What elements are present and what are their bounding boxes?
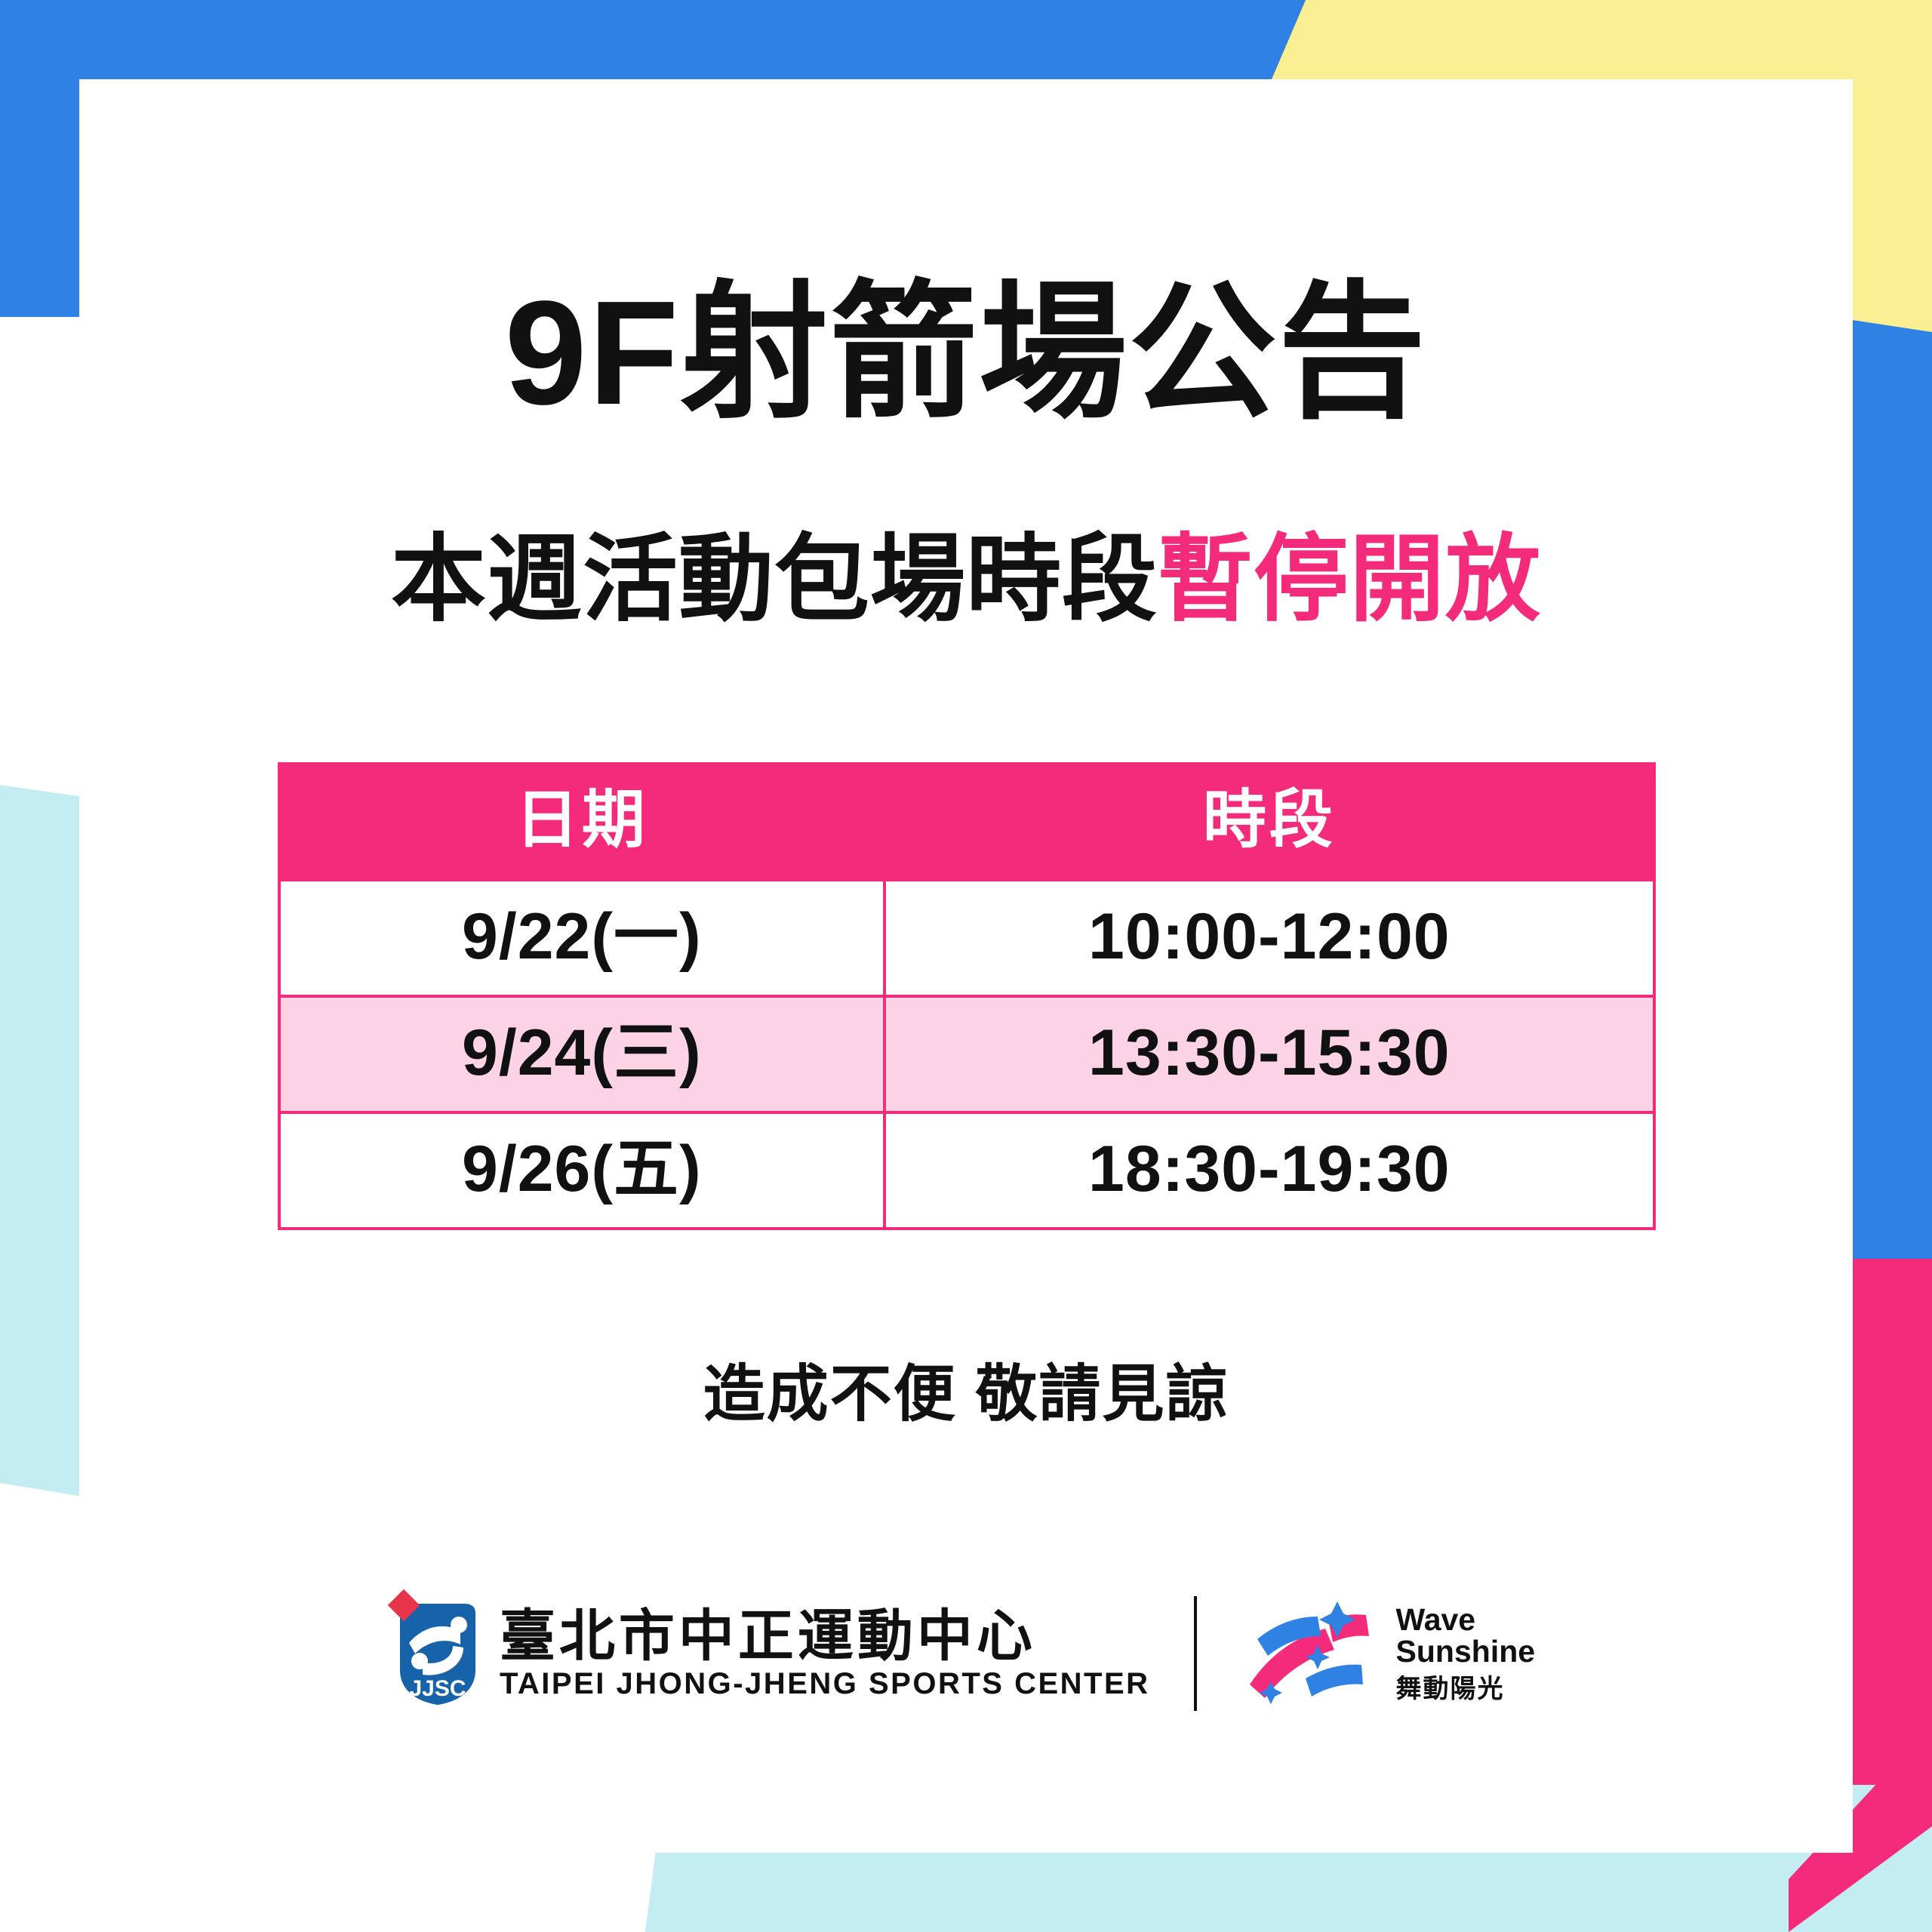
- table-header-row: 日期 時段: [279, 764, 1654, 880]
- org-name-en: TAIPEI JHONG-JHENG SPORTS CENTER: [500, 1669, 1150, 1699]
- cell-time: 18:30-19:30: [884, 1112, 1654, 1229]
- wave-name-line2: Sunshine: [1396, 1636, 1536, 1668]
- subtitle-pink-part: 暫停開放: [1158, 526, 1541, 632]
- primary-logo: JJSC 臺北市中正運動中心 TAIPEI JHONG-JHENG SPORTS…: [397, 1601, 1150, 1706]
- page-title: 9F射箭場公告: [79, 279, 1853, 427]
- logo-divider: [1194, 1596, 1197, 1711]
- subtitle-black-part: 本週活動包場時段: [391, 526, 1158, 632]
- column-header-time: 時段: [884, 764, 1654, 880]
- wave-sunshine-names: Wave Sunshine 舞動陽光: [1396, 1604, 1536, 1702]
- schedule-table-wrapper: 日期 時段 9/22(一) 10:00-12:00 9/24(三) 13:30-…: [278, 762, 1656, 1230]
- org-name-cn: 臺北市中正運動中心: [500, 1608, 1150, 1664]
- jjsc-mark-text: JJSC: [409, 1676, 466, 1701]
- poster-canvas: 9F射箭場公告 本週活動包場時段暫停開放 日期 時段 9/22(一): [0, 0, 1932, 1932]
- cell-date: 9/24(三): [279, 996, 884, 1112]
- cell-date: 9/26(五): [279, 1112, 884, 1229]
- table-row: 9/26(五) 18:30-19:30: [279, 1112, 1654, 1229]
- wave-name-cn: 舞動陽光: [1396, 1676, 1536, 1703]
- secondary-logo: Wave Sunshine 舞動陽光: [1241, 1597, 1536, 1710]
- notice-card: 9F射箭場公告 本週活動包場時段暫停開放 日期 時段 9/22(一): [79, 79, 1853, 1853]
- column-header-date: 日期: [279, 764, 884, 880]
- table-row: 9/22(一) 10:00-12:00: [279, 880, 1654, 996]
- page-subtitle: 本週活動包場時段暫停開放: [79, 532, 1853, 627]
- schedule-table: 日期 時段 9/22(一) 10:00-12:00 9/24(三) 13:30-…: [278, 762, 1656, 1230]
- table-row: 9/24(三) 13:30-15:30: [279, 996, 1654, 1112]
- footer-logos: JJSC 臺北市中正運動中心 TAIPEI JHONG-JHENG SPORTS…: [79, 1596, 1853, 1711]
- apology-text: 造成不便 敬請見諒: [79, 1343, 1853, 1433]
- wave-name-line1: Wave: [1396, 1604, 1536, 1636]
- shield-graphic: JJSC: [397, 1601, 478, 1706]
- wave-sunshine-icon: [1241, 1597, 1377, 1710]
- cell-time: 13:30-15:30: [884, 996, 1654, 1112]
- cell-time: 10:00-12:00: [884, 880, 1654, 996]
- primary-logo-names: 臺北市中正運動中心 TAIPEI JHONG-JHENG SPORTS CENT…: [500, 1608, 1150, 1699]
- cell-date: 9/22(一): [279, 880, 884, 996]
- jjsc-shield-icon: JJSC: [397, 1601, 478, 1706]
